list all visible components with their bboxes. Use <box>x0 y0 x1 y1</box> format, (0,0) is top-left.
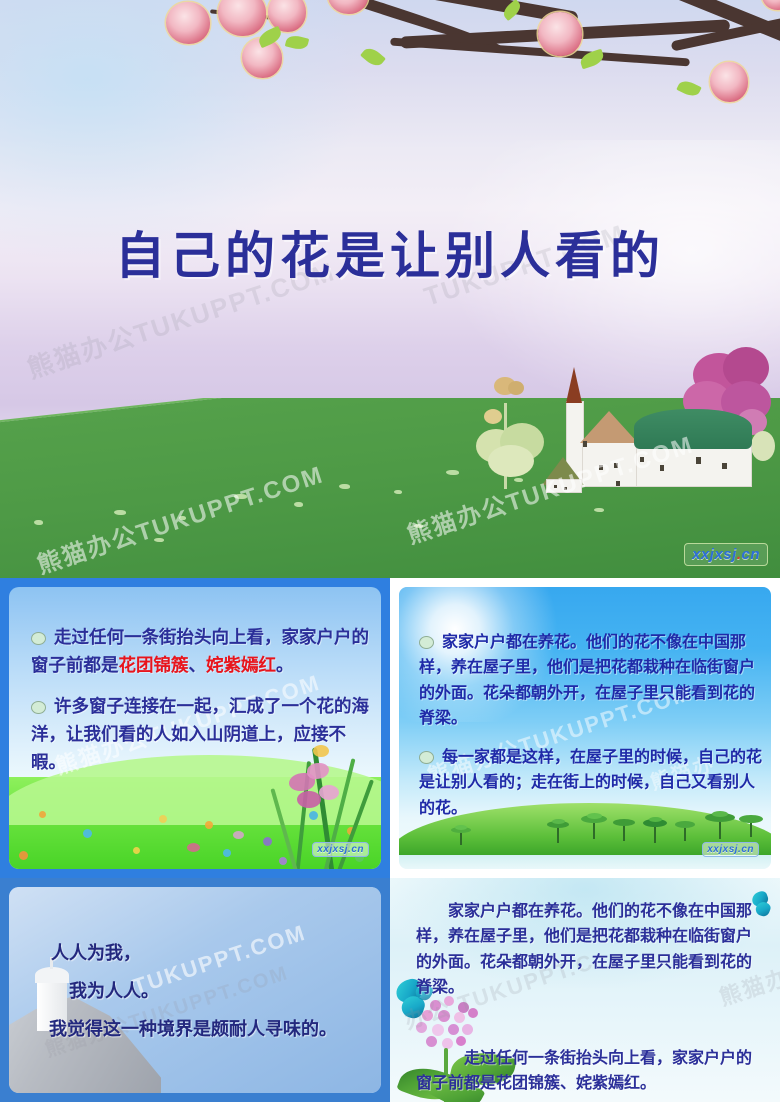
slide-3-canvas: 熊猫办公TUKUPPT.COM 熊猫办 家家户户都在养花。他们的花不像在中国那样… <box>399 587 771 869</box>
badge-tld: cn <box>741 546 760 563</box>
flowering-branch <box>150 0 780 130</box>
tree <box>613 817 635 841</box>
text-line: 我为人人。 <box>69 973 381 1011</box>
slide-2-text[interactable]: 熊猫办公TUKUPPT.COM 走过任何一条街抬头向上看，家家户户的窗子前都是花… <box>0 578 390 878</box>
text-run: 家家户户都在养花。他们的花不像在中国那样，养在屋子里，他们是把花都栽种在临街窗户… <box>419 632 755 727</box>
site-badge: xxjxsj.cn <box>684 543 768 566</box>
church-nave <box>582 441 638 487</box>
flower-blossom <box>218 0 266 36</box>
site-badge: xxjxsj.cn <box>312 842 369 857</box>
text-run: 。 <box>276 656 294 676</box>
badge-label: xxjxsj.cn <box>317 844 364 855</box>
hall-building <box>636 445 752 487</box>
flower-blossom <box>166 2 210 44</box>
text-run: 许多窗子连接在一起，汇成了一个花的海洋，让我们看的人如入山阴道上，应接不暇。 <box>31 697 369 772</box>
slide-2-text-body: 走过任何一条街抬头向上看，家家户户的窗子前都是花团锦簇、姹紫嫣红。 许多窗子连接… <box>31 625 373 777</box>
nave-roof <box>580 411 638 443</box>
european-village <box>470 345 770 495</box>
green-dome <box>634 409 752 449</box>
badge-name: xxjxsj <box>692 546 737 563</box>
bullet-icon <box>419 751 434 764</box>
bullet-icon <box>31 632 46 645</box>
text-paragraph: 走过任何一条街抬头向上看，家家户户的窗子前都是花团锦簇、姹紫嫣红。 <box>416 1045 762 1096</box>
leaf <box>285 34 309 52</box>
tree <box>451 825 471 845</box>
slide-5-text-body: 家家户户都在养花。他们的花不像在中国那样，养在屋子里，他们是把花都栽种在临街窗户… <box>416 898 762 1102</box>
highlight-run: 姹紫嫣红 <box>206 656 276 676</box>
bullet-icon <box>419 636 434 649</box>
spire <box>566 367 582 403</box>
tree <box>675 819 695 841</box>
slide-3-text[interactable]: 熊猫办公TUKUPPT.COM 熊猫办 家家户户都在养花。他们的花不像在中国那样… <box>390 578 780 878</box>
slide-5-canvas: 办公 TUKUPPT.C 熊猫办 家家户户都在养花。他们的花不像在中国那样，养在… <box>390 878 780 1102</box>
site-badge: xxjxsj.cn <box>702 842 759 857</box>
slide-4-text-body: 人人为我， 我为人人。 我觉得这一种境界是颇耐人寻味的。 <box>51 935 381 1048</box>
slide-1-title[interactable]: 熊猫办公TUKUPPT.COM TUKUPPT.COM 熊猫办公TUKUPPT.… <box>0 0 780 578</box>
bullet-icon <box>31 701 46 714</box>
text-line: 人人为我， <box>51 935 381 973</box>
text-paragraph: 家家户户都在养花。他们的花不像在中国那样，养在屋子里，他们是把花都栽种在临街窗户… <box>416 898 762 999</box>
flower-blossom <box>328 0 368 14</box>
leaf <box>360 45 386 70</box>
slide-2-canvas: 熊猫办公TUKUPPT.COM 走过任何一条街抬头向上看，家家户户的窗子前都是花… <box>9 587 381 869</box>
flower-blossom <box>710 62 748 102</box>
page-title: 自己的花是让别人看的 <box>0 216 780 288</box>
flower-blossom <box>762 0 780 10</box>
slide-4-text[interactable]: 熊猫办公TUKUPPT.COM TUKUPPT.COM 人人为我， 我为人人。 … <box>0 878 390 1102</box>
flower-blossom <box>538 12 582 56</box>
highlight-run: 花团锦簇 <box>119 656 189 676</box>
slide-5-text[interactable]: 办公 TUKUPPT.C 熊猫办 家家户户都在养花。他们的花不像在中国那样，养在… <box>390 878 780 1102</box>
tree-left <box>474 375 544 490</box>
text-line: 我觉得这一种境界是颇耐人寻味的。 <box>49 1011 381 1049</box>
presentation-thumbnail-sheet: 熊猫办公TUKUPPT.COM TUKUPPT.COM 熊猫办公TUKUPPT.… <box>0 0 780 1102</box>
badge-label: xxjxsj.cn <box>707 844 754 855</box>
slide-3-text-body: 家家户户都在养花。他们的花不像在中国那样，养在屋子里，他们是把花都栽种在临街窗户… <box>419 629 769 820</box>
text-run: 、 <box>189 656 207 676</box>
text-run: 每一家都是这样，在屋子里的时候，自己的花是让别人看的；走在街上的时候，自己又看别… <box>419 747 762 817</box>
slide-4-canvas: 熊猫办公TUKUPPT.COM TUKUPPT.COM 人人为我， 我为人人。 … <box>9 887 381 1093</box>
tree <box>547 819 569 843</box>
tree <box>643 817 667 843</box>
small-hut <box>546 479 582 493</box>
leaf <box>676 78 701 99</box>
